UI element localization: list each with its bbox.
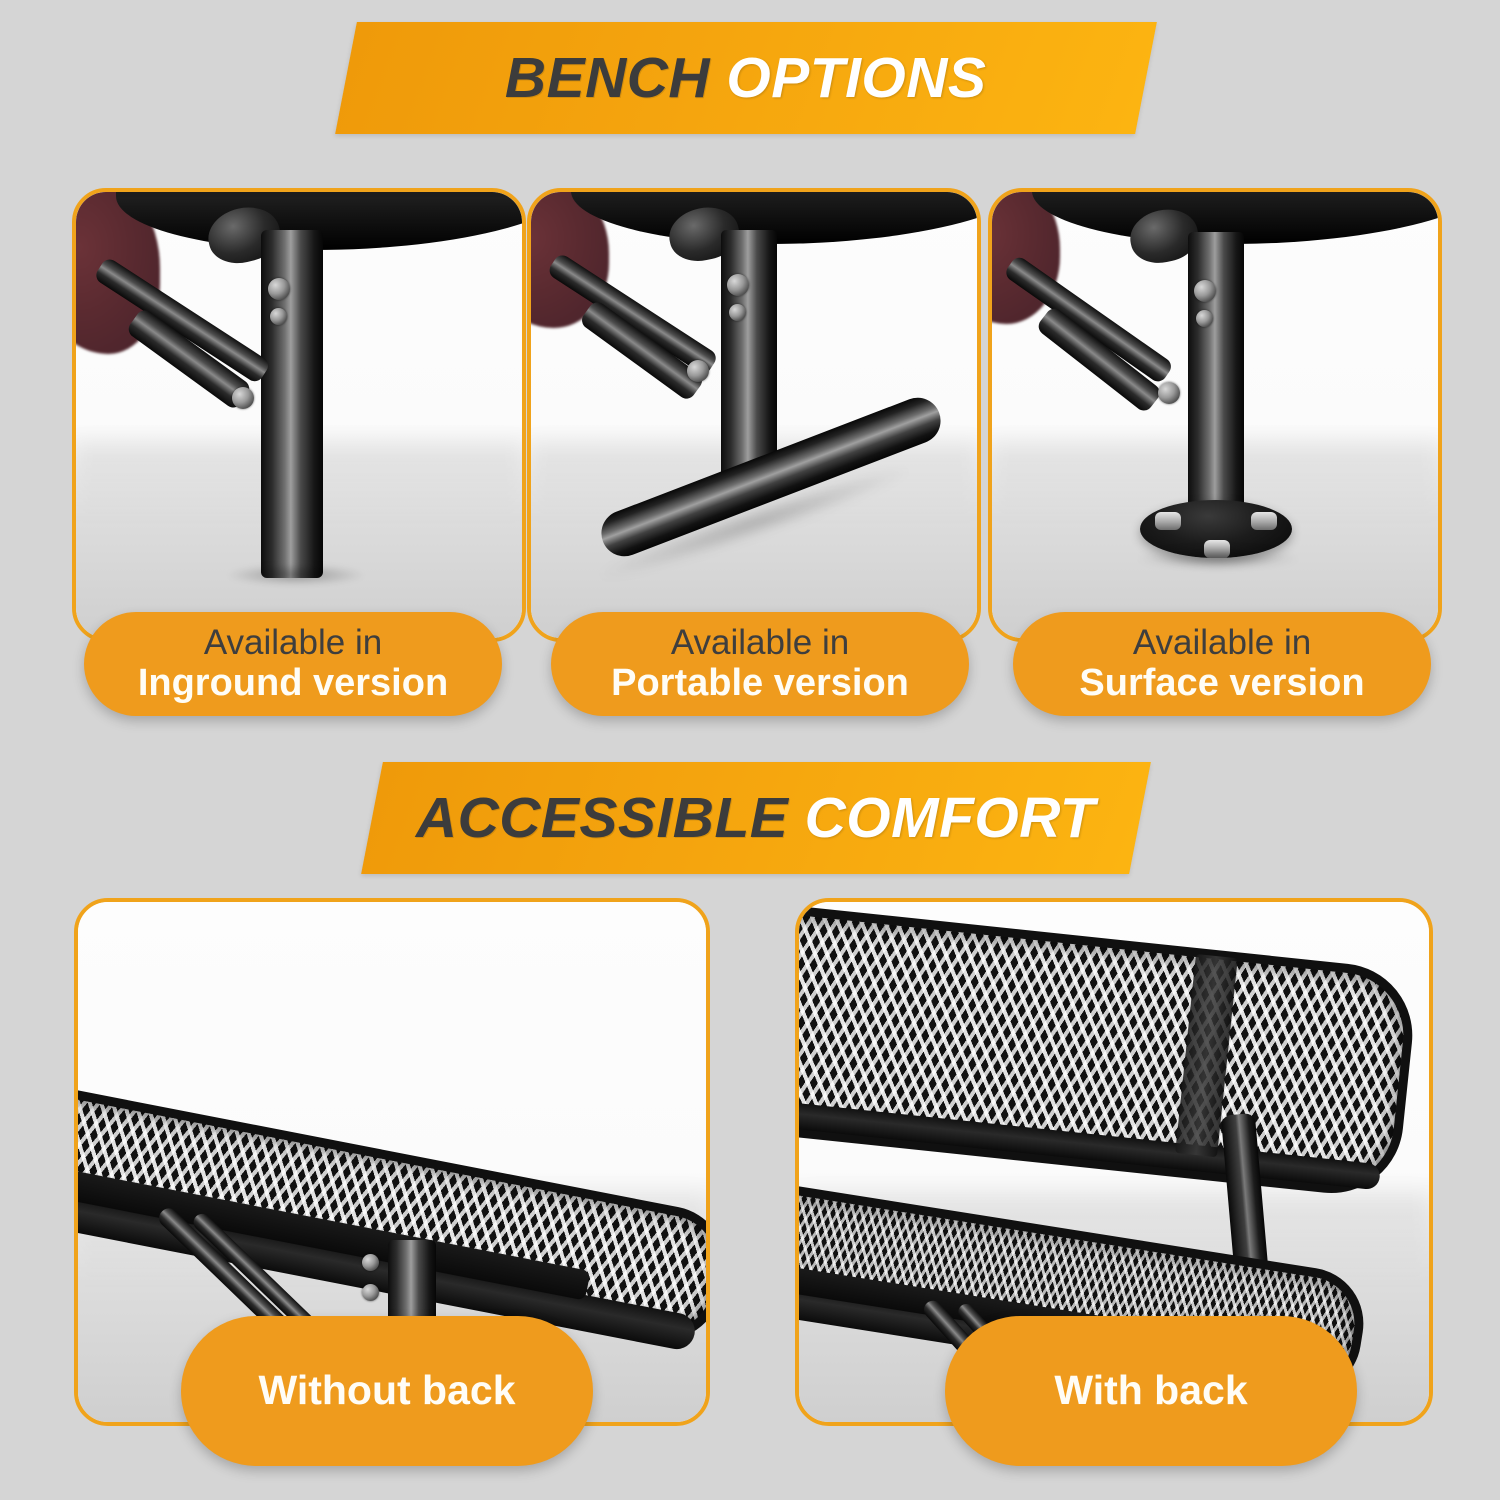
caption-line-2: Inground version	[138, 662, 448, 705]
banner-title-accessible-comfort: ACCESSIBLE COMFORT	[416, 790, 1095, 847]
brace-pivot-bolt	[687, 360, 709, 382]
leg-bolt-lower	[362, 1284, 379, 1301]
option-card-inground[interactable]	[72, 188, 526, 642]
caption-pill-surface: Available in Surface version	[1013, 612, 1431, 716]
brace-pivot-bolt	[1158, 382, 1180, 404]
option-card-surface[interactable]	[988, 188, 1442, 642]
anchor-bolt-right	[1251, 512, 1277, 530]
caption-pill-inground: Available in Inground version	[84, 612, 502, 716]
photo-inground-leg	[76, 192, 522, 638]
caption-line-2: Surface version	[1079, 662, 1364, 705]
ground-shadow	[226, 564, 366, 586]
caption-line-2: Portable version	[611, 662, 909, 705]
banner-word-dark: BENCH	[505, 46, 727, 110]
banner-title-bench-options: BENCH OPTIONS	[505, 50, 987, 107]
caption-pill-without-back: Without back	[181, 1316, 593, 1466]
banner-word-dark: ACCESSIBLE	[416, 786, 805, 850]
section-banner-bench-options: BENCH OPTIONS	[335, 22, 1157, 134]
anchor-bolt-left	[1155, 512, 1181, 530]
option-card-portable[interactable]	[527, 188, 981, 642]
caption-pill-with-back: With back	[945, 1316, 1357, 1466]
brace-pivot-bolt	[232, 387, 254, 409]
banner-word-light: OPTIONS	[727, 46, 987, 110]
infographic-stage: BENCH OPTIONS Available in Inground vers…	[0, 0, 1500, 1500]
brace-bolt-lower	[270, 308, 287, 325]
brace-bolt-upper	[727, 274, 749, 296]
caption-line-2: With back	[1054, 1368, 1247, 1414]
caption-line-1: Available in	[204, 623, 382, 662]
brace-bolt-lower	[1196, 310, 1213, 327]
section-banner-accessible-comfort: ACCESSIBLE COMFORT	[361, 762, 1151, 874]
caption-line-2: Without back	[258, 1368, 515, 1414]
leg-post-surface	[1188, 232, 1244, 518]
photo-surface-leg	[992, 192, 1438, 638]
caption-line-1: Available in	[671, 623, 849, 662]
leg-bolt-upper	[362, 1254, 379, 1271]
caption-line-1: Available in	[1133, 623, 1311, 662]
brace-bolt-upper	[268, 278, 290, 300]
banner-word-light: COMFORT	[805, 786, 1096, 850]
brace-bolt-lower	[729, 304, 746, 321]
ground-shadow	[1138, 548, 1298, 568]
photo-portable-leg	[531, 192, 977, 638]
brace-bolt-upper	[1194, 280, 1216, 302]
caption-pill-portable: Available in Portable version	[551, 612, 969, 716]
